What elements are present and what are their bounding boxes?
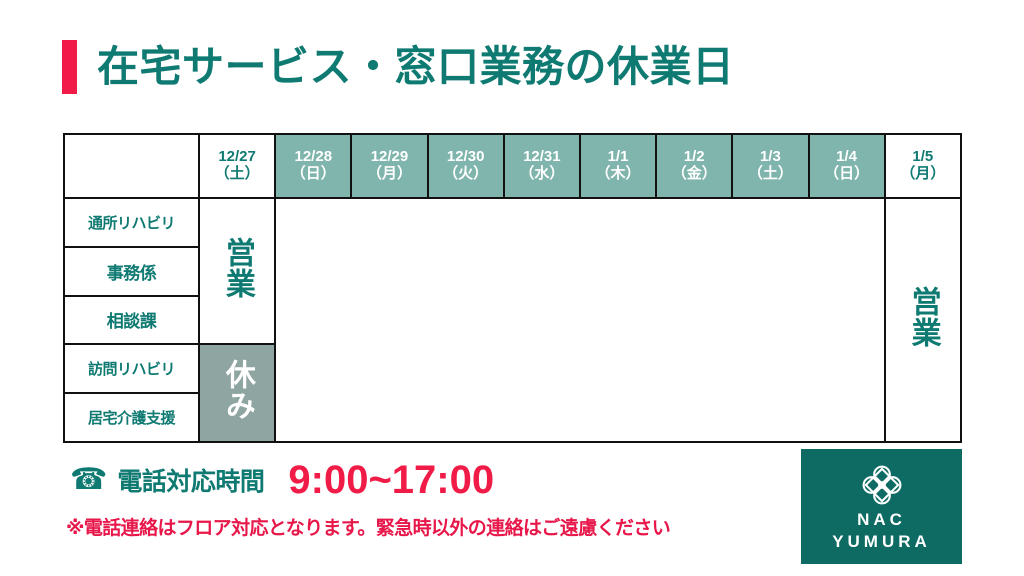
header-weekday-value: （月） <box>352 166 426 183</box>
phone-hours-line: ☎ 電話対応時間 9:00~17:00 <box>70 458 494 502</box>
header-date-12-29: 12/29 （月） <box>351 134 427 198</box>
header-date-value: 12/28 <box>276 149 350 166</box>
status-jan5-open: 営業 <box>885 198 961 442</box>
header-date-value: 12/30 <box>429 149 503 166</box>
slide-root: 在宅サービス・窓口業務の休業日 12/27 （土） 12/28 （日） <box>0 0 1024 576</box>
row-label-jimugakari: 事務係 <box>64 247 199 296</box>
telephone-icon: ☎ <box>70 465 107 495</box>
table-header-row: 12/27 （土） 12/28 （日） 12/29 （月） 12/30 （火） <box>64 134 961 198</box>
phone-hours-label: 電話対応時間 <box>117 462 264 498</box>
header-date-value: 1/1 <box>581 149 655 166</box>
table-row: 通所リハビリ 営業 休み 営業 <box>64 198 961 247</box>
phone-hours-value: 9:00~17:00 <box>288 460 494 500</box>
header-weekday-value: （日） <box>810 166 884 183</box>
header-weekday-value: （日） <box>276 166 350 183</box>
row-label-kyotaku-kaigo-shien: 居宅介護支援 <box>64 393 199 442</box>
header-date-value: 12/31 <box>505 149 579 166</box>
header-weekday-value: （水） <box>505 166 579 183</box>
page-title-text: 在宅サービス・窓口業務の休業日 <box>97 46 735 88</box>
header-date-value: 1/4 <box>810 149 884 166</box>
status-text: 休み <box>534 299 626 346</box>
header-weekday-value: （月） <box>886 166 960 183</box>
header-date-12-27: 12/27 （土） <box>199 134 275 198</box>
status-holiday-block: 休み <box>275 198 885 442</box>
logo-text-line2: YUMURA <box>832 532 931 552</box>
header-weekday-value: （木） <box>581 166 655 183</box>
header-date-1-4: 1/4 （日） <box>809 134 885 198</box>
header-date-12-31: 12/31 （水） <box>504 134 580 198</box>
schedule-table-wrapper: 12/27 （土） 12/28 （日） 12/29 （月） 12/30 （火） <box>63 133 962 441</box>
row-label-sodanka: 相談課 <box>64 296 199 345</box>
header-weekday-value: （火） <box>429 166 503 183</box>
status-text: 休み <box>221 359 253 421</box>
header-date-value: 12/27 <box>200 149 274 166</box>
header-date-12-30: 12/30 （火） <box>428 134 504 198</box>
header-weekday-value: （土） <box>733 166 807 183</box>
schedule-table: 12/27 （土） 12/28 （日） 12/29 （月） 12/30 （火） <box>63 133 962 443</box>
status-text: 営業 <box>907 286 939 348</box>
header-date-12-28: 12/28 （日） <box>275 134 351 198</box>
title-accent-bar <box>62 40 77 94</box>
header-date-value: 12/29 <box>352 149 426 166</box>
header-corner-blank <box>64 134 199 198</box>
header-date-1-3: 1/3 （土） <box>732 134 808 198</box>
header-date-1-2: 1/2 （金） <box>656 134 732 198</box>
header-date-value: 1/3 <box>733 149 807 166</box>
phone-note-text: ※電話連絡はフロア対応となります。緊急時以外の連絡はご遠慮ください <box>66 513 670 540</box>
header-date-value: 1/2 <box>657 149 731 166</box>
header-date-1-1: 1/1 （木） <box>580 134 656 198</box>
company-logo: NAC YUMURA <box>801 449 962 564</box>
logo-text-line1: NAC <box>857 510 906 530</box>
row-label-tsusho-rehab: 通所リハビリ <box>64 198 199 247</box>
header-weekday-value: （金） <box>657 166 731 183</box>
status-dec27-closed: 休み <box>199 344 275 442</box>
header-weekday-value: （土） <box>200 166 274 183</box>
status-text: 営業 <box>221 237 253 299</box>
header-date-1-5: 1/5 （月） <box>885 134 961 198</box>
page-title: 在宅サービス・窓口業務の休業日 <box>62 38 735 96</box>
row-label-homon-rehab: 訪問リハビリ <box>64 344 199 393</box>
header-date-value: 1/5 <box>886 149 960 166</box>
quatrefoil-clover-icon <box>859 462 905 508</box>
status-dec27-open: 営業 <box>199 198 275 344</box>
